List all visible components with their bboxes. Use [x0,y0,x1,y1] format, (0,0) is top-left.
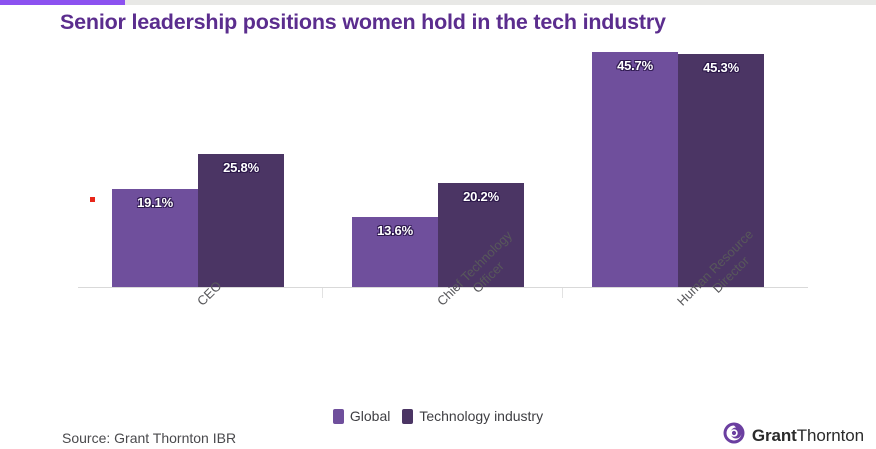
bar-value-label: 13.6% [352,223,438,238]
legend-swatch-icon [333,409,344,424]
legend-item-global[interactable]: Global [333,408,390,424]
legend-label: Global [350,408,390,424]
source-note: Source: Grant Thornton IBR [62,430,236,446]
bar-value-label: 20.2% [438,189,524,204]
legend-item-technology-industry[interactable]: Technology industry [402,408,543,424]
axis-tick [322,288,323,298]
bar-global-chief-technology-officer[interactable]: 13.6% [352,217,438,287]
bar-value-label: 45.7% [592,58,678,73]
bar-value-label: 45.3% [678,60,764,75]
legend-label: Technology industry [419,408,543,424]
bar-value-label: 19.1% [112,195,198,210]
brand-name-part2: Thornton [797,426,864,445]
brand-name: GrantThornton [752,426,864,446]
red-dot-marker [90,197,95,202]
bar-global-human-resource-director[interactable]: 45.7% [592,52,678,287]
axis-tick [562,288,563,298]
brand-logo: GrantThornton [723,422,864,449]
legend-swatch-icon [402,409,413,424]
bar-technology-industry-ceo[interactable]: 25.8% [198,154,284,287]
grant-thornton-swirl-icon [723,422,745,449]
bar-global-ceo[interactable]: 19.1% [112,189,198,287]
brand-name-part1: Grant [752,426,797,445]
bar-value-label: 25.8% [198,160,284,175]
